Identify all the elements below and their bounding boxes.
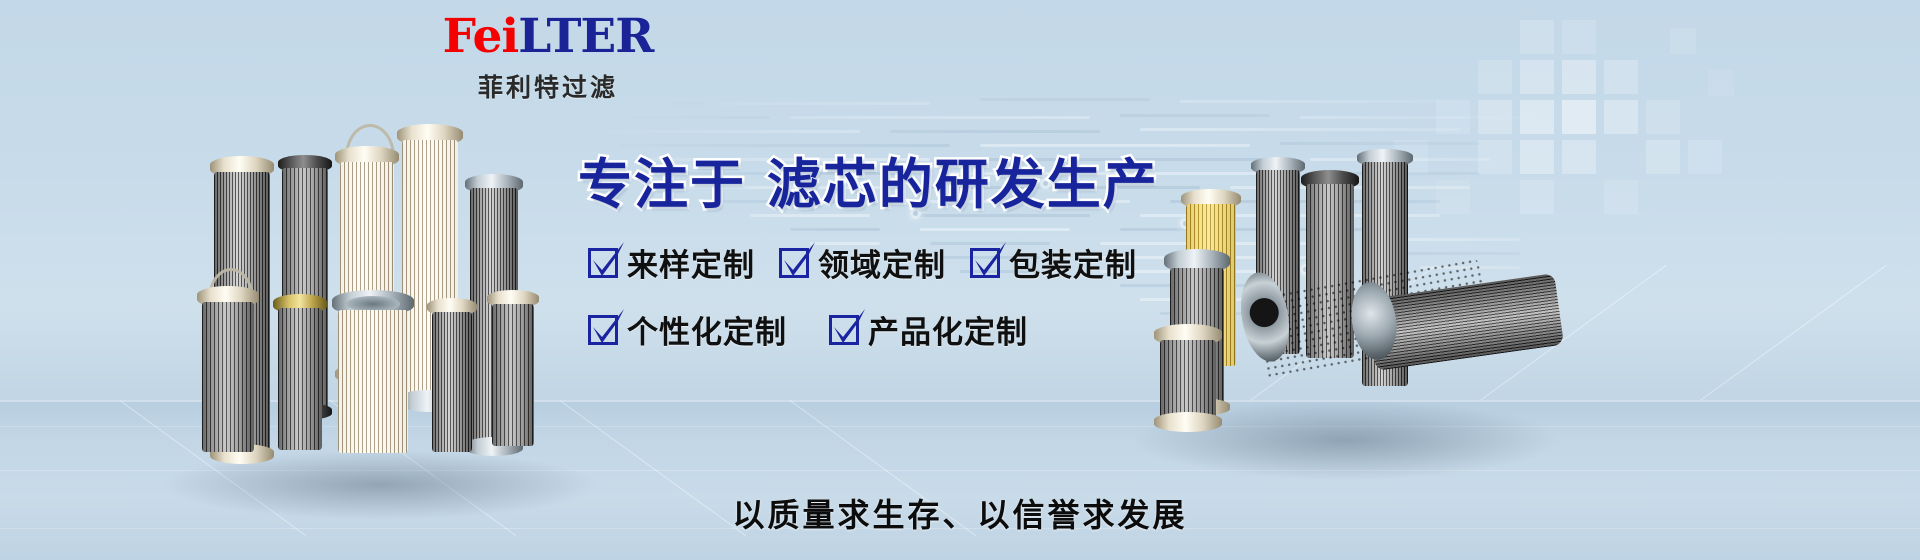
checkbox-checked-icon (970, 248, 1000, 278)
product-group-left (150, 120, 610, 520)
logo-text-lter: LTER (518, 9, 653, 64)
filter-cartridge (278, 300, 322, 450)
filter-cartridge (492, 296, 534, 446)
checkbox-checked-icon (588, 248, 618, 278)
filter-cartridge (338, 298, 408, 453)
feature-label: 个性化定制 (627, 307, 787, 352)
logo-wordmark: FeiLTER (398, 12, 698, 62)
checkbox-checked-icon (588, 315, 618, 345)
feature-item[interactable]: 来样定制 (588, 240, 755, 285)
feature-label: 产品化定制 (868, 307, 1028, 352)
headline: 专注于 滤芯的研发生产 (578, 140, 1159, 219)
filter-cartridge (432, 304, 472, 452)
feature-item[interactable]: 包装定制 (970, 240, 1137, 285)
feature-item[interactable]: 个性化定制 (588, 307, 787, 352)
feature-label: 包装定制 (1009, 240, 1137, 285)
feature-item[interactable]: 领域定制 (779, 240, 946, 285)
feature-list: 来样定制 领域定制 包装定制 个性化定制 (588, 240, 1208, 374)
feature-row: 个性化定制 产品化定制 (588, 307, 1208, 352)
feature-item[interactable]: 产品化定制 (829, 307, 1028, 352)
feature-row: 来样定制 领域定制 包装定制 (588, 240, 1208, 285)
checkbox-checked-icon (779, 248, 809, 278)
tagline: 以质量求生存、以信誉求发展 (0, 490, 1920, 536)
filter-cartridge (202, 292, 254, 452)
logo-text-fei: Fei (443, 9, 519, 64)
feature-label: 领域定制 (818, 240, 946, 285)
feature-label: 来样定制 (627, 240, 755, 285)
logo-chinese-name: 菲利特过滤 (398, 68, 698, 104)
checkbox-checked-icon (829, 315, 859, 345)
feilter-logo[interactable]: FeiLTER 菲利特过滤 (398, 12, 698, 104)
promo-banner: FeiLTER 菲利特过滤 专注于 滤芯的研发生产 来样定制 领域定制 (0, 0, 1920, 560)
